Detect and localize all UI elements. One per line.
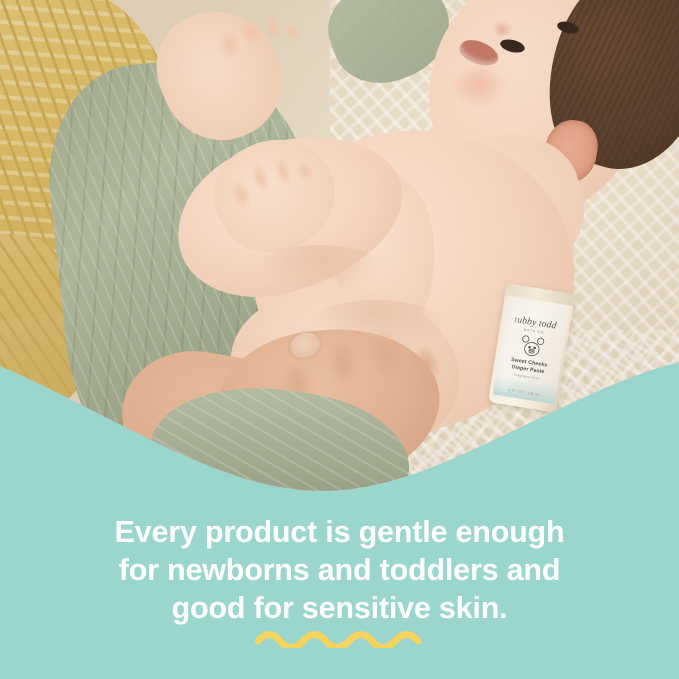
hero-photo-area: tubby todd BATH CO [0,0,679,500]
wavy-underline-accent [255,626,425,648]
headline-line-2: for newborns and toddlers and [52,551,627,589]
baby-skin-fold-2 [255,245,385,295]
headline-line-3: good for sensitive skin. [52,589,627,627]
headline-message: Every product is gentle enough for newbo… [0,513,679,627]
baby-cheek [452,62,507,108]
headline-line-1: Every product is gentle enough [52,513,627,551]
tubby-todd-bear-logo-icon [517,333,546,361]
baby-nose [492,20,512,36]
promo-canvas: tubby todd BATH CO [0,0,679,679]
lifestyle-photo: tubby todd BATH CO [0,0,679,500]
teal-wave-divider: tubby todd BATH CO [0,0,679,500]
